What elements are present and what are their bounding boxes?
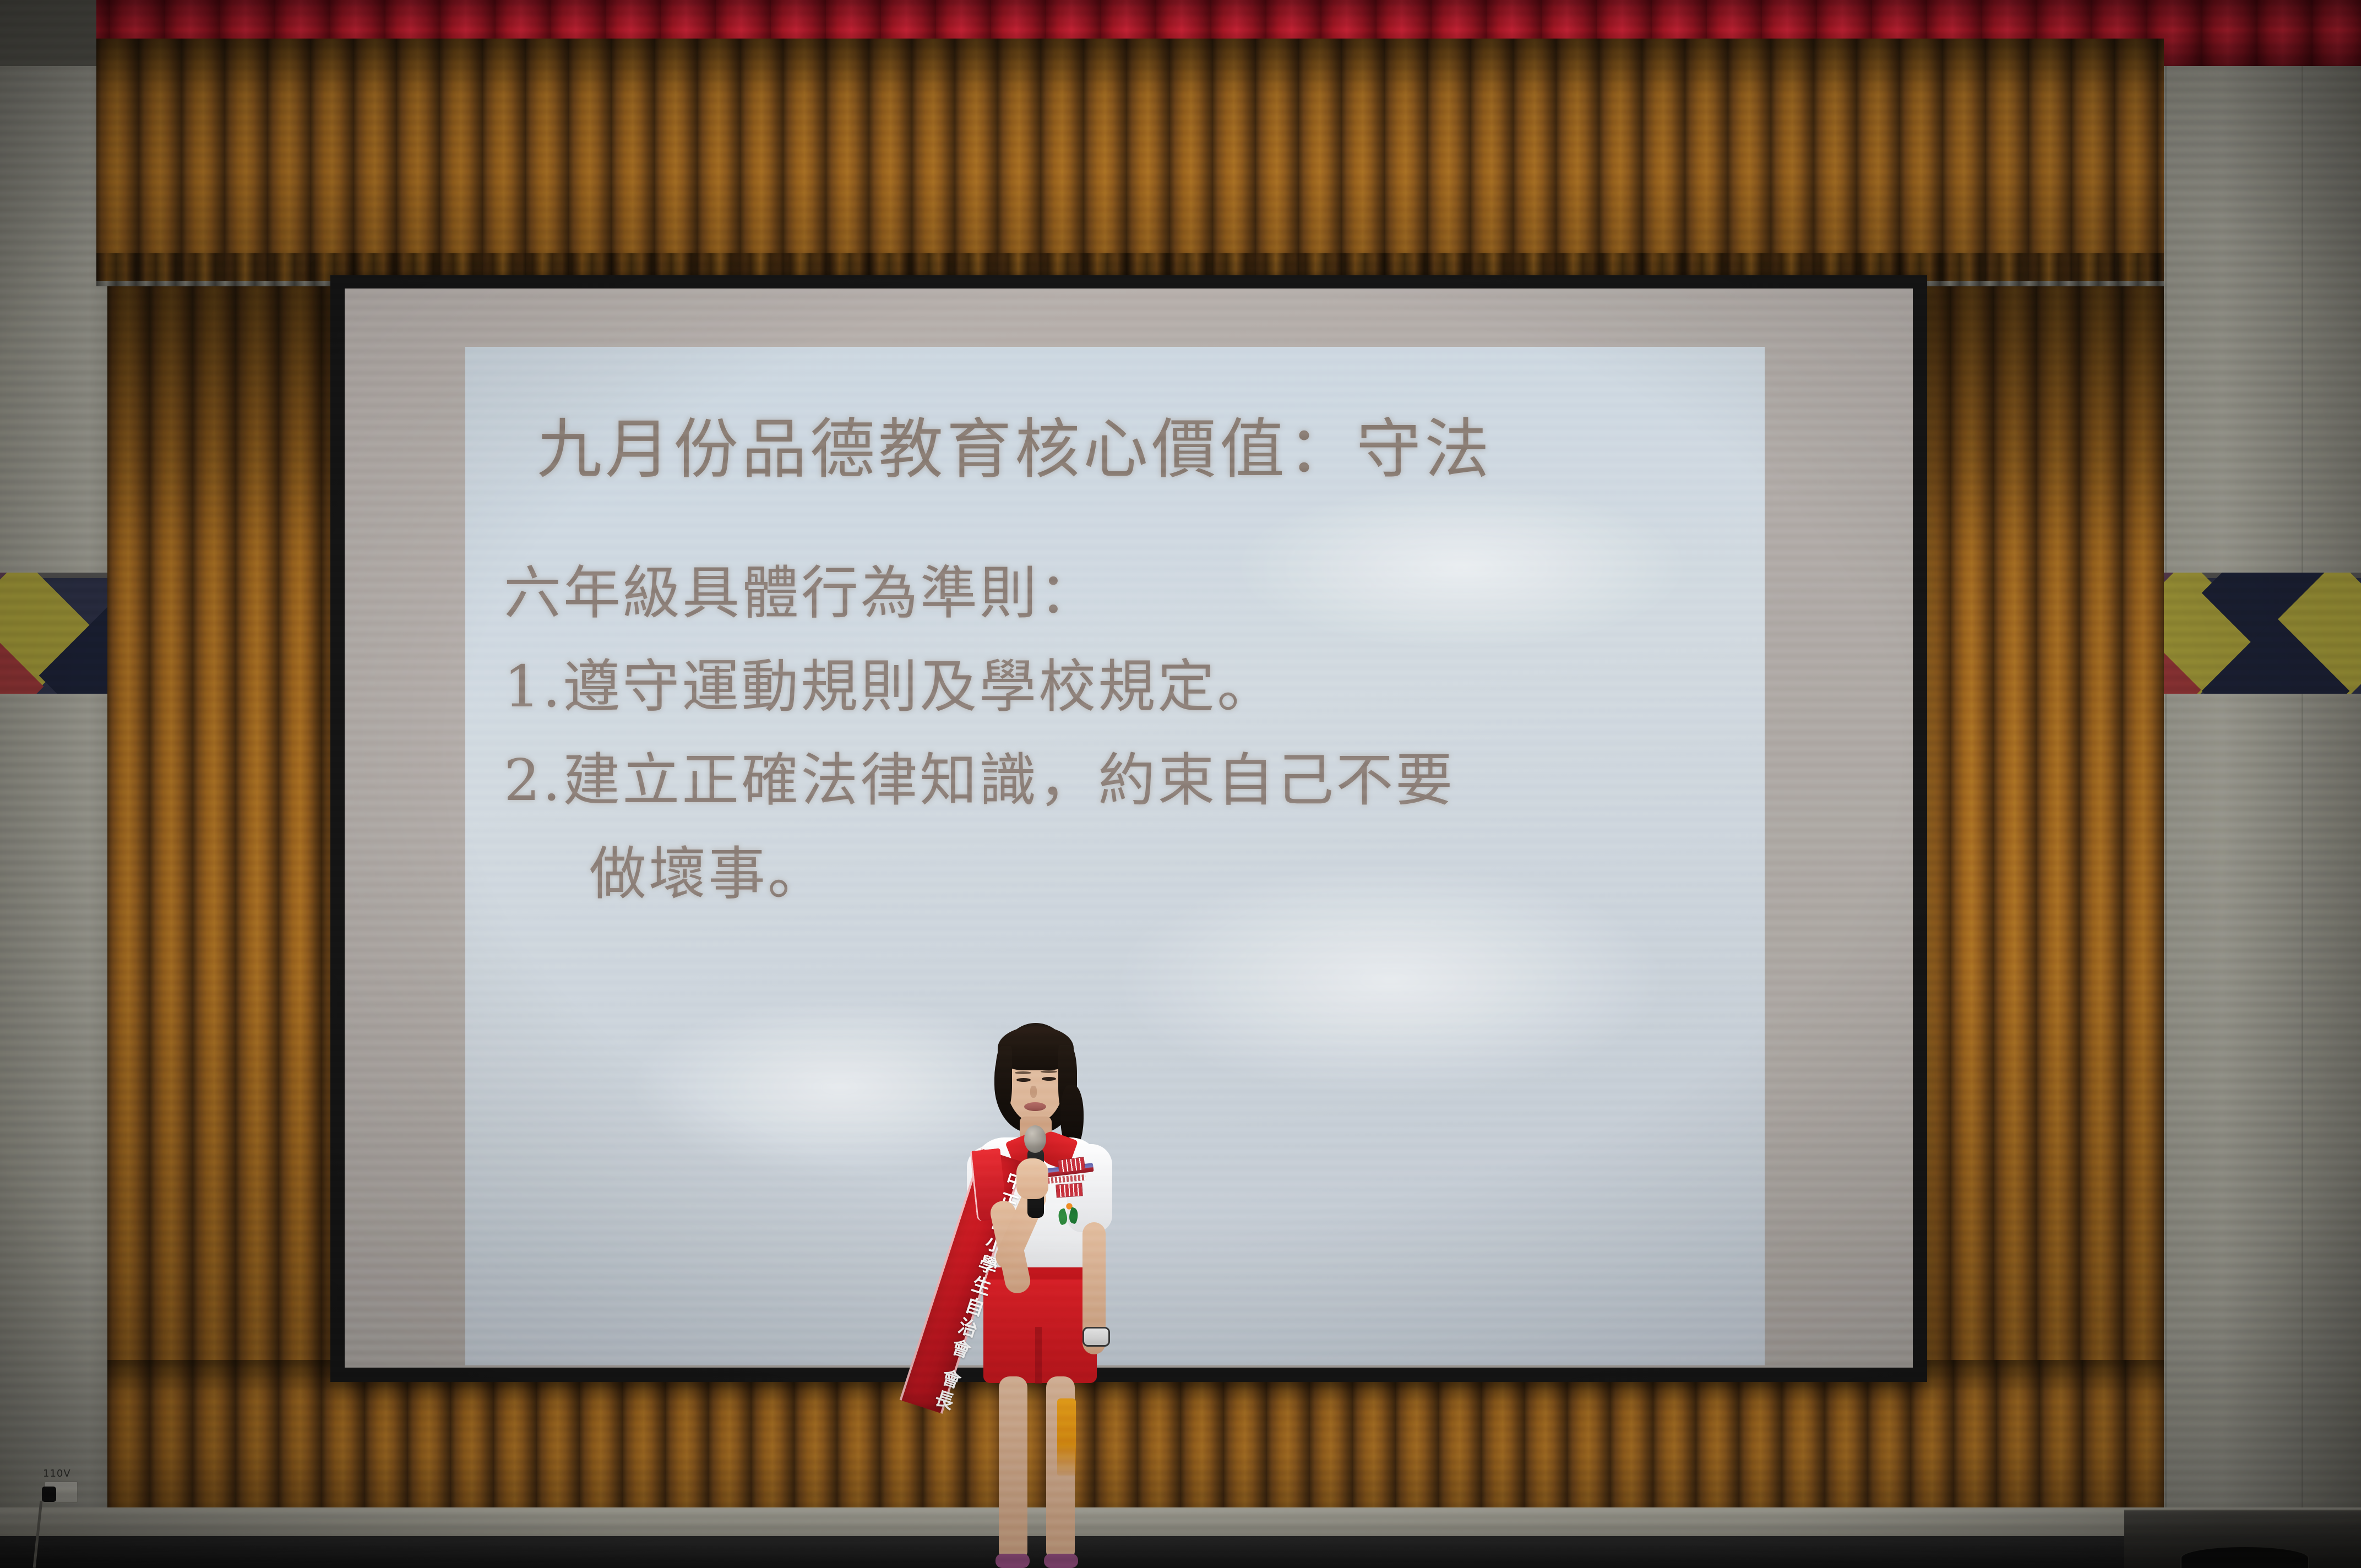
shoe-left: [995, 1554, 1030, 1568]
microphone-head-icon[interactable]: [1024, 1125, 1046, 1153]
slide-subtitle: 六年級具體行為準則：: [504, 562, 1748, 624]
curtain-left-shading: [107, 286, 350, 1520]
mouth: [1024, 1102, 1046, 1111]
eye-left: [1016, 1078, 1031, 1082]
student-speaker: 中正國小學生自治會 會長: [931, 1019, 1140, 1568]
wall-seam: [2302, 0, 2303, 1568]
eye-right: [1042, 1077, 1056, 1081]
wall-tile-band-right: [2141, 573, 2361, 694]
stage-floor: [0, 1536, 2361, 1568]
slide-bullet-2-continuation: 做壞事。: [589, 842, 1765, 905]
wristwatch: [1082, 1327, 1110, 1347]
nose: [1030, 1086, 1037, 1098]
hand-holding-microphone: [1016, 1158, 1048, 1199]
wall-seam: [2165, 0, 2167, 1568]
power-plug[interactable]: [42, 1487, 56, 1502]
wall-tile-band-left: [0, 573, 124, 694]
wall-outlet-label: 110V: [43, 1468, 71, 1479]
slide-bullet-1: 1.遵守運動規則及學校規定。: [504, 655, 1748, 718]
curtain-right-shading: [1908, 286, 2164, 1520]
eyebrow-right: [1041, 1070, 1057, 1073]
valance-left-gap: [0, 0, 96, 66]
school-crest-box: [1056, 1183, 1083, 1197]
leg-left: [999, 1376, 1027, 1558]
auditorium-stage-photo: 九月份品德教育核心價值：守法 六年級具體行為準則： 1.遵守運動規則及學校規定。…: [0, 0, 2361, 1568]
slide-bullet-2: 2.建立正確法律知識，約束自己不要: [504, 749, 1748, 812]
right-wall: [2130, 0, 2361, 1568]
eyebrow-left: [1015, 1071, 1031, 1074]
speaker-grill: [2180, 1546, 2309, 1568]
shorts-seam: [1035, 1327, 1042, 1384]
shoe-right: [1044, 1554, 1078, 1568]
slide-title: 九月份品德教育核心價值：守法: [537, 413, 1737, 486]
stage-edge-lip: [0, 1507, 2361, 1540]
shorts-waistband: [983, 1267, 1097, 1280]
pelmet-shading: [96, 39, 2164, 281]
sash-tassel: [1057, 1398, 1076, 1476]
